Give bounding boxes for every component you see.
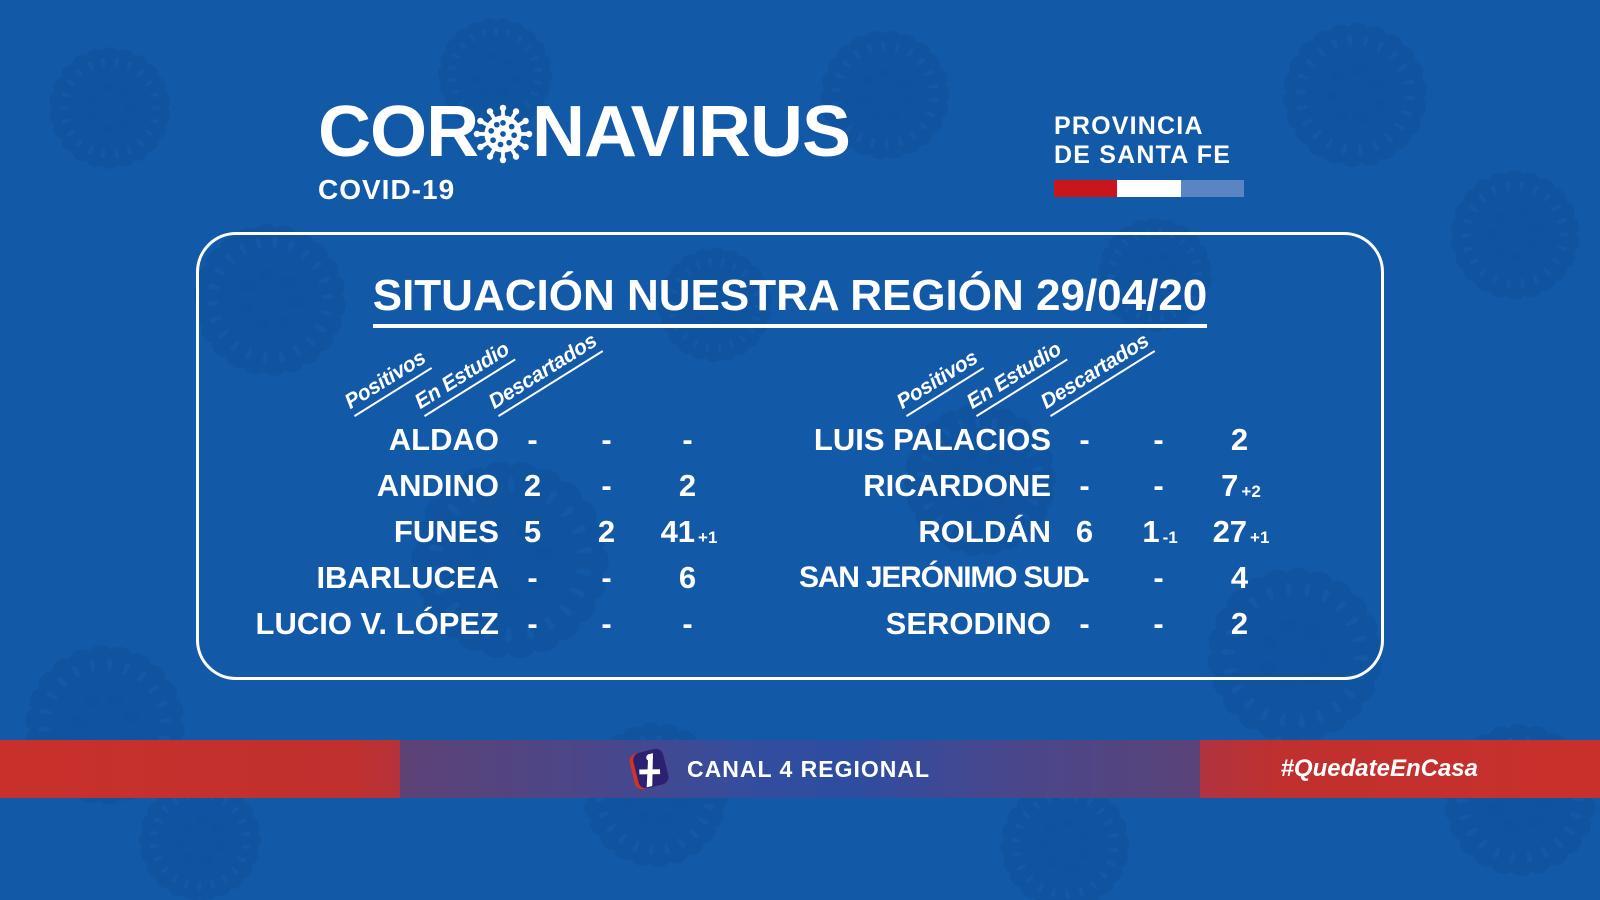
cell-descartados: 6 <box>647 561 731 595</box>
cell-positivos: - <box>1051 607 1121 641</box>
cell-value: - <box>1079 561 1089 595</box>
table-row: SAN JERÓNIMO SUD - - 4 <box>799 555 1339 601</box>
covid-19-subtitle: COVID-19 <box>318 174 455 206</box>
stats-card: SITUACIÓN NUESTRA REGIÓN 29/04/20 Positi… <box>196 232 1384 680</box>
cell-en-estudio: - <box>1121 423 1199 457</box>
logo-text-part1: COR <box>318 98 478 166</box>
cell-en-estudio: - <box>1121 561 1199 595</box>
cell-value: 41 <box>661 515 695 549</box>
locality-name: ALDAO <box>247 423 499 457</box>
cell-value: - <box>601 423 611 457</box>
cell-value: 27 <box>1213 515 1247 549</box>
cell-en-estudio: - <box>569 561 647 595</box>
provincia-line-1: PROVINCIA <box>1054 112 1244 141</box>
cell-descartados: 2 <box>647 469 731 503</box>
cell-en-estudio: 2 <box>569 515 647 549</box>
cell-value: 6 <box>679 561 696 595</box>
locality-name: LUIS PALACIOS <box>799 423 1051 457</box>
coronavirus-wordmark: COR <box>318 98 844 166</box>
cell-descartados: 7+2 <box>1199 469 1283 503</box>
cell-value: 4 <box>1231 561 1248 595</box>
page-title: SITUACIÓN NUESTRA REGIÓN 29/04/20 <box>199 271 1381 328</box>
hashtag-quedateencasa: #QuedateEnCasa <box>1281 740 1478 798</box>
locality-name: ANDINO <box>247 469 499 503</box>
infographic-root: COR <box>0 0 1600 900</box>
table-row: SERODINO - - 2 <box>799 601 1339 647</box>
cell-delta: -1 <box>1163 529 1178 546</box>
cell-en-estudio: - <box>1121 469 1199 503</box>
cell-value: - <box>527 423 537 457</box>
table-rows-right: LUIS PALACIOS - - 2 RICARDONE - - 7+2 RO… <box>799 417 1339 647</box>
cell-en-estudio: 1-1 <box>1121 515 1199 549</box>
table-rows-left: ALDAO - - - ANDINO 2 - 2 FUNES 5 2 41+1 <box>247 417 787 647</box>
locality-name: SERODINO <box>799 607 1051 641</box>
column-headers-left: Positivos En Estudio Descartados <box>247 331 787 417</box>
cell-en-estudio: - <box>1121 607 1199 641</box>
provincia-line-2: DE SANTA FE <box>1054 141 1244 170</box>
cell-descartados: 2 <box>1199 423 1283 457</box>
table-row: RICARDONE - - 7+2 <box>799 463 1339 509</box>
page-title-text: SITUACIÓN NUESTRA REGIÓN 29/04/20 <box>373 271 1208 328</box>
locality-name: FUNES <box>247 515 499 549</box>
stats-table-left: Positivos En Estudio Descartados ALDAO -… <box>247 331 787 647</box>
footer-channel-block: CANAL 4 REGIONAL <box>625 740 930 798</box>
locality-name: SAN JERÓNIMO SUD <box>799 561 1051 595</box>
cell-value: - <box>1153 607 1163 641</box>
cell-descartados: 27+1 <box>1199 515 1283 549</box>
cell-descartados: 4 <box>1199 561 1283 595</box>
cell-value: - <box>1153 561 1163 595</box>
table-row: LUIS PALACIOS - - 2 <box>799 417 1339 463</box>
cell-value: 5 <box>524 515 541 549</box>
table-row: FUNES 5 2 41+1 <box>247 509 787 555</box>
locality-name: IBARLUCEA <box>247 561 499 595</box>
cell-descartados: - <box>647 607 731 641</box>
cell-value: - <box>601 607 611 641</box>
cell-value: - <box>601 469 611 503</box>
cell-value: 7 <box>1221 469 1238 503</box>
cell-positivos: 2 <box>499 469 569 503</box>
cell-value: - <box>682 607 692 641</box>
header: COR <box>0 0 1600 225</box>
cell-positivos: - <box>499 607 569 641</box>
cell-descartados: 41+1 <box>647 515 731 549</box>
table-row: LUCIO V. LÓPEZ - - - <box>247 601 787 647</box>
cell-value: - <box>1079 607 1089 641</box>
cell-descartados: - <box>647 423 731 457</box>
flag-stripe-white <box>1117 180 1180 197</box>
cell-positivos: - <box>499 423 569 457</box>
cell-delta: +1 <box>1250 529 1269 546</box>
logo-text-part2: NAVIRUS <box>532 98 850 166</box>
flag-stripe-blue <box>1181 180 1244 197</box>
cell-value: 2 <box>679 469 696 503</box>
table-row: IBARLUCEA - - 6 <box>247 555 787 601</box>
virus-particle-icon <box>1420 700 1600 900</box>
column-headers-right: Positivos En Estudio Descartados <box>799 331 1339 417</box>
cell-value: 1 <box>1142 515 1159 549</box>
cell-positivos: 6 <box>1051 515 1121 549</box>
cell-value: - <box>1079 423 1089 457</box>
cell-delta: +1 <box>698 529 717 546</box>
cell-delta: +2 <box>1241 483 1260 500</box>
coronavirus-icon <box>472 103 534 165</box>
cell-value: 2 <box>598 515 615 549</box>
cell-value: - <box>1079 469 1089 503</box>
canal4-logo-icon <box>625 745 673 793</box>
cell-value: 2 <box>1231 607 1248 641</box>
cell-positivos: - <box>499 561 569 595</box>
channel-name: CANAL 4 REGIONAL <box>687 756 930 783</box>
table-row: ANDINO 2 - 2 <box>247 463 787 509</box>
cell-value: - <box>1153 469 1163 503</box>
stats-table-right: Positivos En Estudio Descartados LUIS PA… <box>799 331 1339 647</box>
provincia-flag-bar <box>1054 180 1244 197</box>
flag-stripe-red <box>1054 180 1117 197</box>
cell-value: - <box>1153 423 1163 457</box>
table-row: ROLDÁN 6 1-1 27+1 <box>799 509 1339 555</box>
cell-en-estudio: - <box>569 423 647 457</box>
cell-positivos: 5 <box>499 515 569 549</box>
table-row: ALDAO - - - <box>247 417 787 463</box>
cell-value: 2 <box>524 469 541 503</box>
cell-value: - <box>601 561 611 595</box>
cell-value: - <box>682 423 692 457</box>
cell-en-estudio: - <box>569 469 647 503</box>
cell-value: 6 <box>1076 515 1093 549</box>
cell-value: - <box>527 607 537 641</box>
cell-positivos: - <box>1051 423 1121 457</box>
provincia-santa-fe-logo: PROVINCIA DE SANTA FE <box>1054 112 1244 197</box>
cell-en-estudio: - <box>569 607 647 641</box>
locality-name: ROLDÁN <box>799 515 1051 549</box>
locality-name: LUCIO V. LÓPEZ <box>247 607 499 641</box>
cell-positivos: - <box>1051 469 1121 503</box>
cell-descartados: 2 <box>1199 607 1283 641</box>
cell-positivos: - <box>1051 561 1121 595</box>
cell-value: 2 <box>1231 423 1248 457</box>
virus-particle-icon <box>0 620 210 830</box>
cell-value: - <box>527 561 537 595</box>
locality-name: RICARDONE <box>799 469 1051 503</box>
coronavirus-logo: COR <box>318 98 844 166</box>
footer-bar: CANAL 4 REGIONAL #QuedateEnCasa <box>0 740 1600 798</box>
